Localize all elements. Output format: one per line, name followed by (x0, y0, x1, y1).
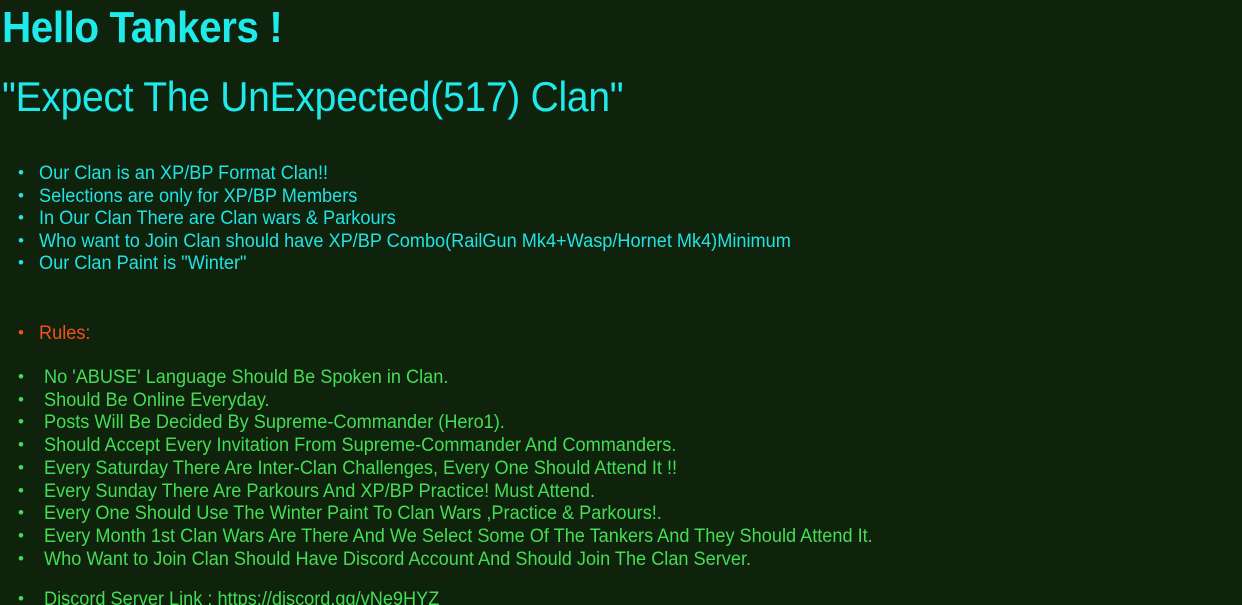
list-item: •Selections are only for XP/BP Members (18, 186, 826, 209)
bullet-icon: • (18, 525, 34, 548)
bullet-icon: • (18, 322, 34, 345)
list-item: •Every One Should Use The Winter Paint T… (18, 503, 912, 526)
rules-heading-list: •Rules: (18, 323, 93, 346)
bullet-icon: • (18, 207, 34, 230)
list-item-text: Every Saturday There Are Inter-Clan Chal… (44, 458, 677, 481)
list-item-text: Should Accept Every Invitation From Supr… (44, 435, 676, 458)
list-item: •Every Saturday There Are Inter-Clan Cha… (18, 458, 912, 481)
bullet-icon: • (18, 411, 34, 434)
list-item-text: Selections are only for XP/BP Members (39, 186, 357, 209)
list-item-text: Our Clan Paint is "Winter" (39, 253, 247, 276)
bullet-icon: • (18, 389, 34, 412)
bullet-icon: • (18, 480, 34, 503)
list-item-text: Rules: (39, 323, 90, 346)
list-item: •Who Want to Join Clan Should Have Disco… (18, 549, 912, 572)
list-item: •Every Month 1st Clan Wars Are There And… (18, 526, 912, 549)
list-item: •Posts Will Be Decided By Supreme-Comman… (18, 412, 912, 435)
list-item: •Discord Server Link : https://discord.g… (18, 589, 458, 605)
list-item-text: No 'ABUSE' Language Should Be Spoken in … (44, 367, 448, 390)
bullet-icon: • (18, 588, 34, 605)
list-item: •Should Accept Every Invitation From Sup… (18, 435, 912, 458)
list-item: •Our Clan Paint is "Winter" (18, 253, 826, 276)
discord-link-list: •Discord Server Link : https://discord.g… (18, 589, 458, 605)
list-item-text: Every Sunday There Are Parkours And XP/B… (44, 481, 595, 504)
bullet-icon: • (18, 502, 34, 525)
list-item-text: Who want to Join Clan should have XP/BP … (39, 231, 791, 254)
bullet-icon: • (18, 252, 34, 275)
rules-heading-item: •Rules: (18, 323, 93, 346)
page-title-greeting: Hello Tankers ! (2, 1, 282, 55)
list-item: •Who want to Join Clan should have XP/BP… (18, 231, 826, 254)
list-item: •Our Clan is an XP/BP Format Clan!! (18, 163, 826, 186)
bullet-icon: • (18, 457, 34, 480)
list-item-text: Every One Should Use The Winter Paint To… (44, 503, 662, 526)
clan-rules-list: •No 'ABUSE' Language Should Be Spoken in… (18, 367, 912, 571)
clan-info-list: •Our Clan is an XP/BP Format Clan!!•Sele… (18, 163, 826, 276)
list-item-text: Every Month 1st Clan Wars Are There And … (44, 526, 873, 549)
bullet-icon: • (18, 230, 34, 253)
list-item-text: Our Clan is an XP/BP Format Clan!! (39, 163, 328, 186)
list-item: •Every Sunday There Are Parkours And XP/… (18, 481, 912, 504)
list-item: •Should Be Online Everyday. (18, 390, 912, 413)
list-item-text: Who Want to Join Clan Should Have Discor… (44, 549, 751, 572)
list-item-text: Should Be Online Everyday. (44, 390, 270, 413)
clan-info-page: Hello Tankers ! "Expect The UnExpected(5… (0, 0, 1242, 605)
bullet-icon: • (18, 548, 34, 571)
list-item-text: Posts Will Be Decided By Supreme-Command… (44, 412, 505, 435)
bullet-icon: • (18, 185, 34, 208)
bullet-icon: • (18, 162, 34, 185)
list-item-text: In Our Clan There are Clan wars & Parkou… (39, 208, 396, 231)
bullet-icon: • (18, 434, 34, 457)
list-item: •In Our Clan There are Clan wars & Parko… (18, 208, 826, 231)
list-item: •No 'ABUSE' Language Should Be Spoken in… (18, 367, 912, 390)
list-item-text: Discord Server Link : https://discord.gg… (44, 589, 439, 605)
bullet-icon: • (18, 366, 34, 389)
page-title-clan-name: "Expect The UnExpected(517) Clan" (2, 71, 623, 123)
